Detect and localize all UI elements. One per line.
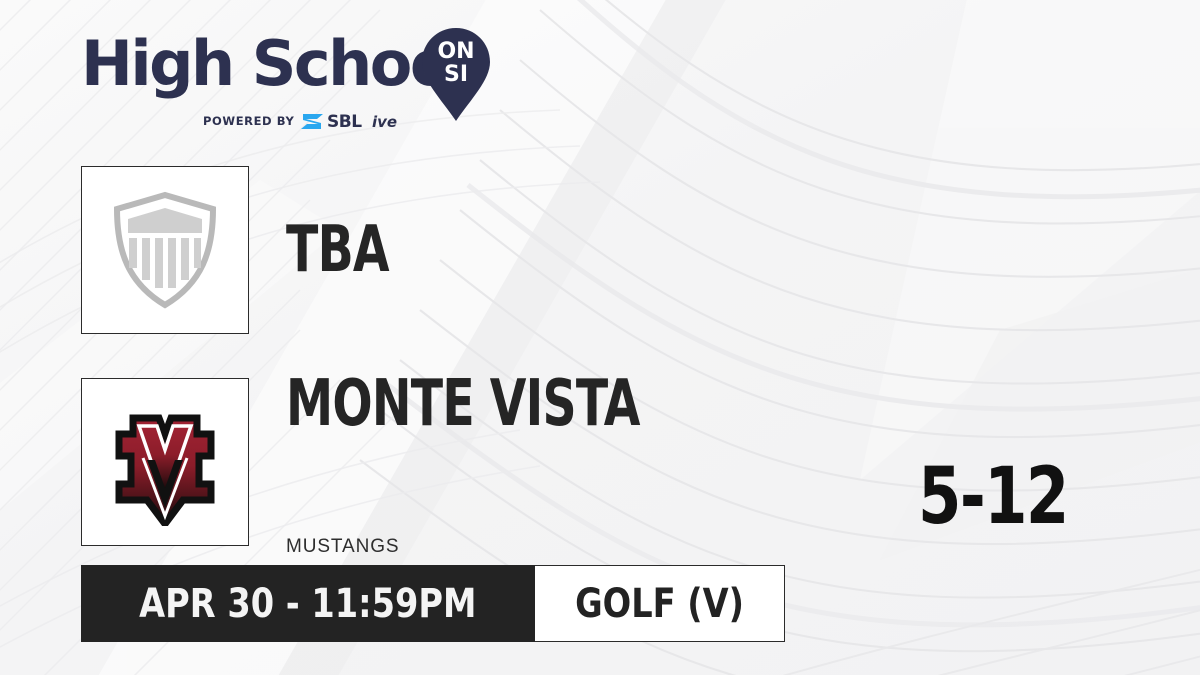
on-si-pin-icon: ON SI bbox=[419, 27, 493, 123]
monte-vista-mv-monogram-icon bbox=[103, 398, 227, 526]
matchup-graphic: High School ON SI POWERED BY SBL ive bbox=[0, 0, 1200, 675]
pin-line-2-text: SI bbox=[444, 62, 468, 87]
powered-by-label: POWERED BY bbox=[203, 114, 294, 128]
away-team-logo-box bbox=[81, 166, 249, 334]
team-record: 5-12 bbox=[918, 458, 1068, 536]
sblive-logo-icon: SBL ive bbox=[301, 110, 409, 132]
brand-header: High School ON SI POWERED BY SBL ive bbox=[81, 33, 511, 138]
svg-text:ive: ive bbox=[372, 113, 397, 131]
game-sport: GOLF (V) bbox=[535, 565, 785, 642]
placeholder-shield-icon bbox=[110, 191, 220, 309]
powered-by-lockup: POWERED BY SBL ive bbox=[203, 110, 409, 132]
home-team-logo-box bbox=[81, 378, 249, 546]
pin-line-1-text: ON bbox=[437, 39, 474, 64]
home-team-name: MONTE VISTA bbox=[286, 372, 640, 436]
svg-text:SBL: SBL bbox=[327, 112, 362, 132]
game-info-banner: APR 30 - 11:59PM GOLF (V) bbox=[81, 565, 785, 642]
home-team-mascot: MUSTANGS bbox=[286, 536, 399, 558]
game-datetime-text: APR 30 - 11:59PM bbox=[139, 581, 476, 627]
game-sport-text: GOLF (V) bbox=[575, 581, 744, 627]
away-team-name: TBA bbox=[286, 218, 389, 282]
game-datetime: APR 30 - 11:59PM bbox=[81, 565, 535, 642]
brand-wordmark: High School bbox=[81, 33, 469, 95]
